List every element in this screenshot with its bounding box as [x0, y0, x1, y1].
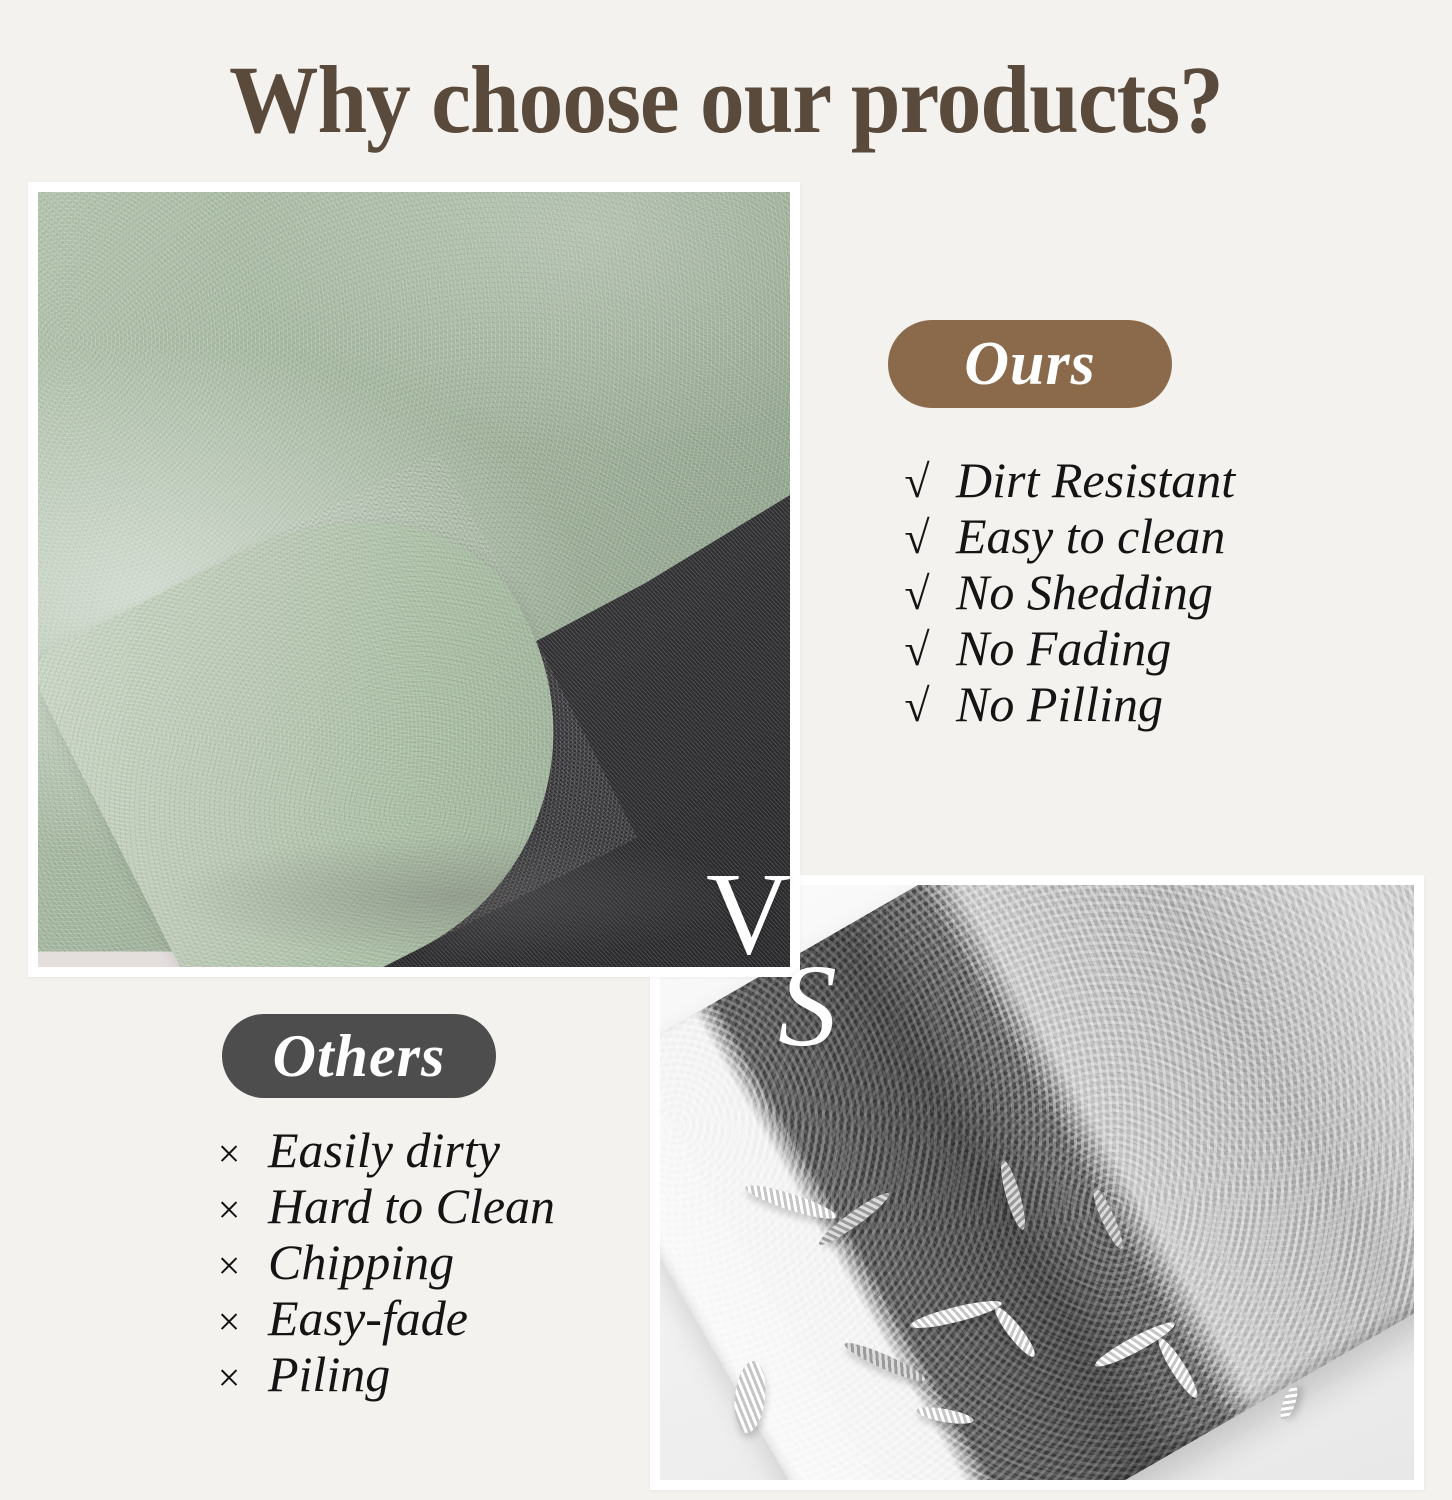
list-item-label: No Shedding [956, 564, 1213, 620]
list-item: √ No Fading [900, 620, 1235, 676]
list-item-label: Piling [268, 1346, 390, 1402]
list-item-label: Chipping [268, 1234, 454, 1290]
list-item: × Easily dirty [212, 1122, 555, 1178]
list-item: × Chipping [212, 1234, 555, 1290]
others-feature-list: × Easily dirty × Hard to Clean × Chippin… [212, 1122, 555, 1402]
ours-photo-inner [38, 192, 790, 967]
list-item-label: Hard to Clean [268, 1178, 555, 1234]
ours-badge-label: Ours [964, 329, 1096, 400]
others-badge-label: Others [273, 1022, 446, 1091]
list-item-label: Dirt Resistant [956, 452, 1235, 508]
list-item-label: Easily dirty [268, 1122, 500, 1178]
list-item-label: No Fading [956, 620, 1171, 676]
cross-icon: × [212, 1188, 246, 1233]
ours-feature-list: √ Dirt Resistant √ Easy to clean √ No Sh… [900, 452, 1235, 732]
list-item: × Hard to Clean [212, 1178, 555, 1234]
list-item-label: No Pilling [956, 676, 1163, 732]
list-item: √ No Shedding [900, 564, 1235, 620]
ours-product-photo [28, 182, 800, 977]
check-icon: √ [900, 512, 934, 564]
comparison-infographic: Why choose our products? [0, 0, 1452, 1500]
list-item-label: Easy-fade [268, 1290, 468, 1346]
check-icon: √ [900, 456, 934, 508]
page-title: Why choose our products? [51, 52, 1401, 148]
cross-icon: × [212, 1300, 246, 1345]
list-item-label: Easy to clean [956, 508, 1225, 564]
list-item: × Piling [212, 1346, 555, 1402]
check-icon: √ [900, 680, 934, 732]
list-item: × Easy-fade [212, 1290, 555, 1346]
cross-icon: × [212, 1132, 246, 1177]
list-item: √ No Pilling [900, 676, 1235, 732]
cross-icon: × [212, 1244, 246, 1289]
check-icon: √ [900, 624, 934, 676]
list-item: √ Easy to clean [900, 508, 1235, 564]
ours-badge: Ours [888, 320, 1172, 408]
check-icon: √ [900, 568, 934, 620]
cross-icon: × [212, 1356, 246, 1401]
green-mat-scene [38, 192, 790, 967]
list-item: √ Dirt Resistant [900, 452, 1235, 508]
others-badge: Others [222, 1014, 496, 1098]
